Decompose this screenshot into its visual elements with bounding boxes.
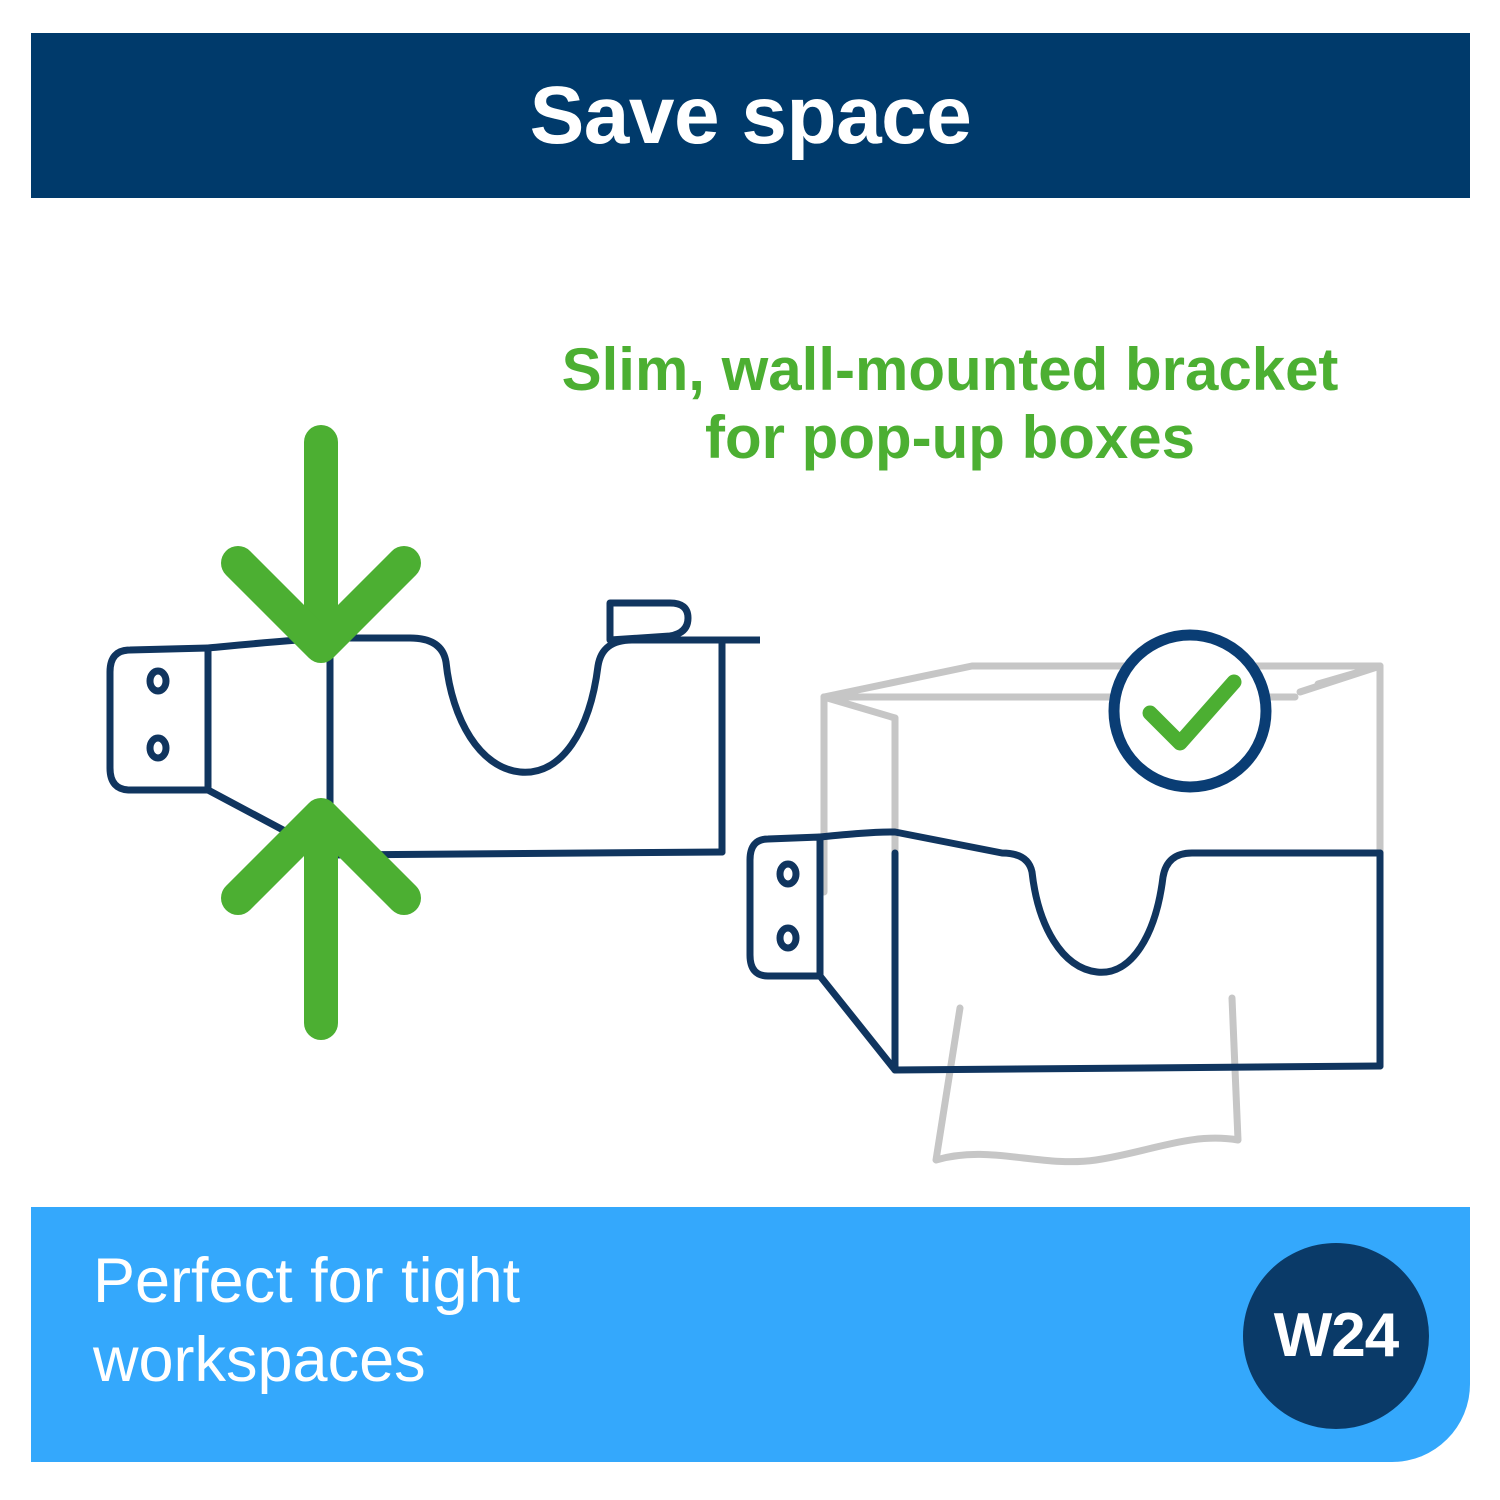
footer-line-2: workspaces [93,1321,520,1400]
product-code-label: W24 [1274,1305,1398,1367]
bracket-outline [750,832,1380,1070]
bracket-outline [110,638,760,855]
screw-hole-top [150,671,166,691]
product-feature-card: Save space Slim, wall-mounted bracket fo… [0,0,1500,1500]
bracket-side-view-illustration [80,400,760,1060]
footer-banner: Perfect for tight workspaces W24 [31,1207,1470,1462]
bracket-with-box-illustration [740,620,1440,1180]
check-circle-icon [1114,635,1266,787]
footer-tagline: Perfect for tight workspaces [93,1242,520,1401]
product-code-badge: W24 [1243,1243,1429,1429]
header-banner: Save space [31,33,1470,198]
popup-box-outline [824,666,1380,910]
dispensed-sheet [936,998,1238,1162]
page-title: Save space [530,75,972,157]
bracket-tab [610,603,688,640]
screw-hole-bottom [150,738,166,758]
headline-line-1: Slim, wall-mounted bracket [420,336,1480,404]
screw-hole-top [780,864,796,884]
up-arrow-icon [238,815,404,1023]
footer-line-1: Perfect for tight [93,1242,520,1321]
down-arrow-icon [238,442,404,646]
screw-hole-bottom [780,928,796,948]
